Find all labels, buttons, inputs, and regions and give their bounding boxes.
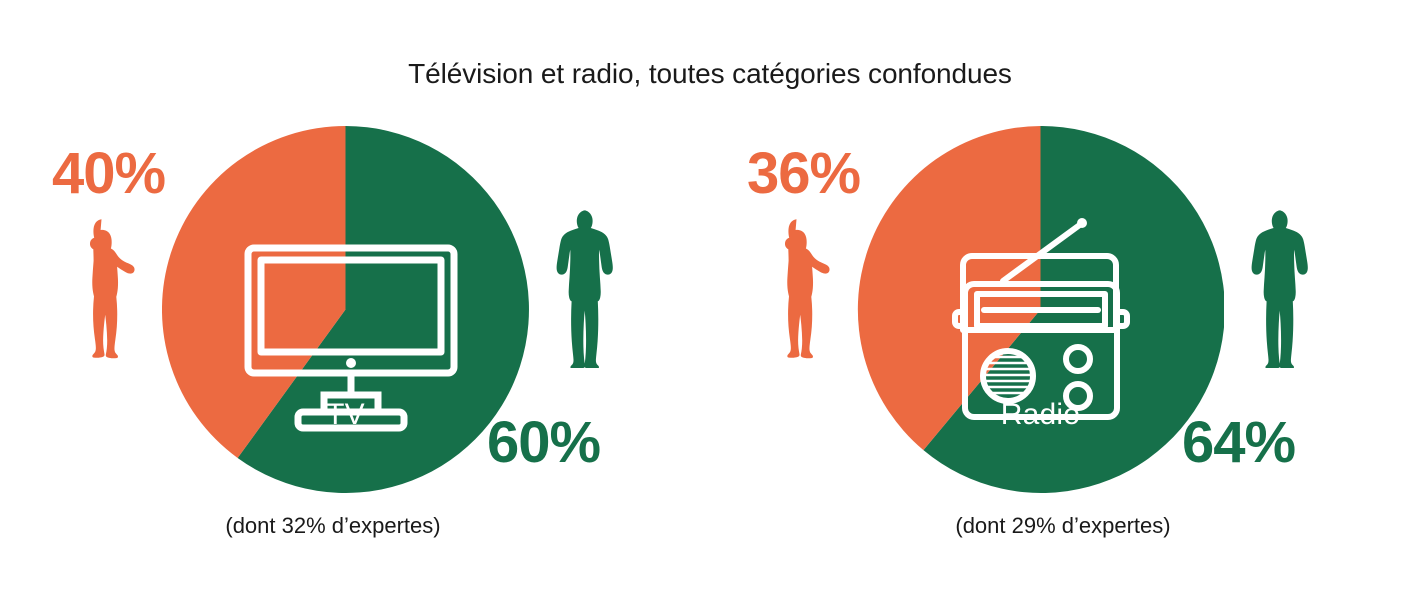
female-silhouette-icon — [76, 218, 138, 366]
chart-panel-tv: 40% — [0, 0, 710, 600]
media-label-radio: Radio — [857, 398, 1224, 432]
pie-slices-radio — [857, 126, 1224, 493]
caption-tv: (dont 32% d’expertes) — [0, 513, 688, 539]
pie-slices-tv — [162, 126, 529, 493]
pie-chart-tv: TV — [162, 126, 529, 493]
pie-chart-radio: Radio — [857, 126, 1224, 493]
male-percent-label-radio: 64% — [1182, 414, 1295, 472]
caption-radio: (dont 29% d’expertes) — [708, 513, 1418, 539]
female-percent-label-radio: 36% — [747, 145, 860, 203]
female-percent-label-tv: 40% — [52, 145, 165, 203]
male-silhouette-icon — [1251, 208, 1311, 368]
male-percent-label-tv: 60% — [487, 414, 600, 472]
media-label-tv: TV — [162, 398, 529, 432]
chart-panel-radio: 36% — [695, 0, 1405, 600]
female-silhouette-icon — [771, 218, 833, 366]
male-silhouette-icon — [556, 208, 616, 368]
infographic-canvas: Télévision et radio, toutes catégories c… — [0, 0, 1420, 600]
